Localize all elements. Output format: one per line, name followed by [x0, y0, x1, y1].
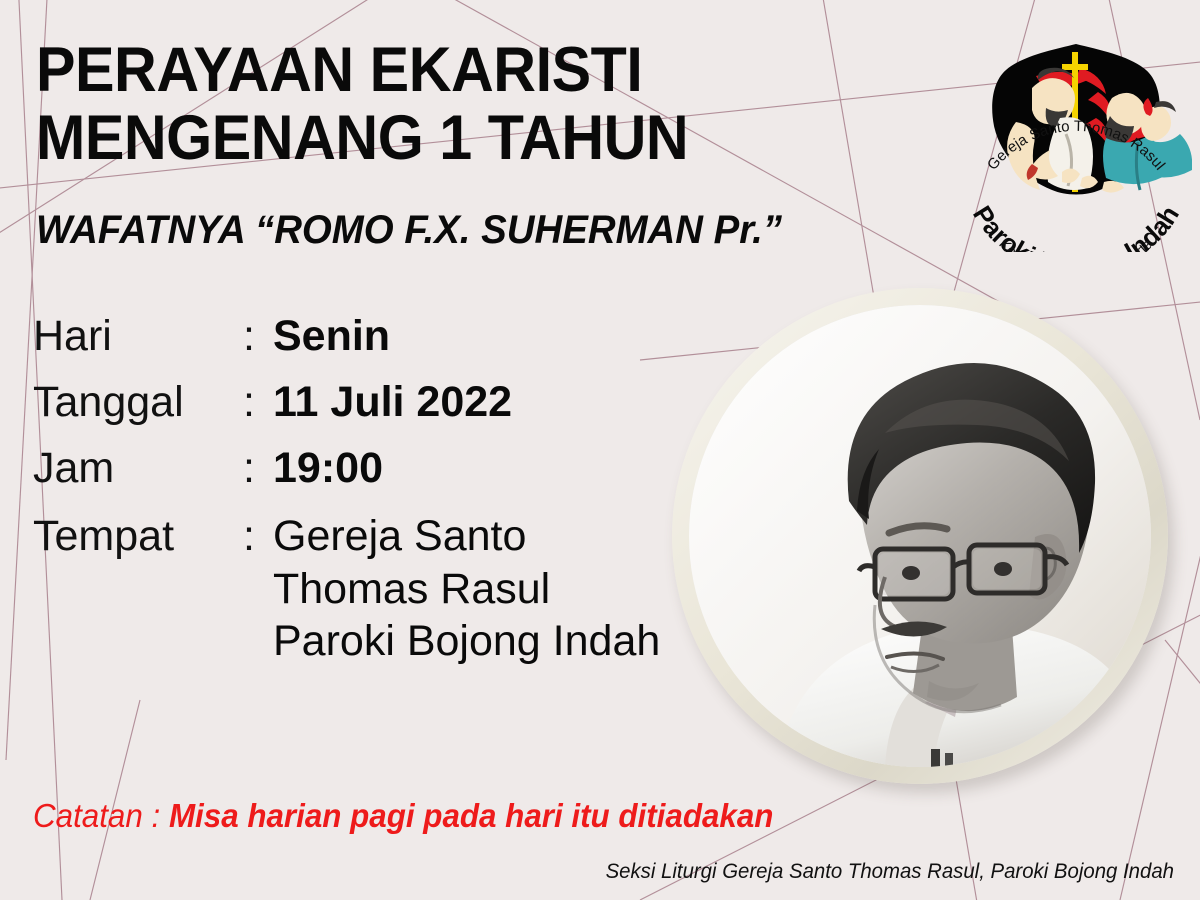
- detail-colon-tanggal: :: [243, 378, 273, 426]
- detail-row-tempat: Tempat : Gereja Santo Thomas Rasul Parok…: [33, 510, 673, 667]
- page-title: PERAYAAN EKARISTI MENGENANG 1 TAHUN: [36, 36, 901, 172]
- footer-credit: Seksi Liturgi Gereja Santo Thomas Rasul,…: [606, 860, 1174, 884]
- portrait-photo: [689, 305, 1151, 767]
- event-details-list: Hari : Senin Tanggal : 11 Juli 2022 Jam …: [33, 312, 673, 668]
- memorial-poster: PERAYAAN EKARISTI MENGENANG 1 TAHUN WAFA…: [0, 0, 1200, 900]
- detail-colon-jam: :: [243, 444, 273, 492]
- detail-value-jam: 19:00: [273, 444, 383, 492]
- detail-colon-tempat: :: [243, 512, 273, 560]
- detail-value-hari: Senin: [273, 312, 390, 360]
- note-label: Catatan :: [33, 797, 160, 834]
- portrait-container: [672, 288, 1168, 784]
- detail-row-jam: Jam : 19:00: [33, 444, 673, 492]
- detail-label-jam: Jam: [33, 444, 243, 492]
- detail-label-hari: Hari: [33, 312, 243, 360]
- parish-crest-logo: Gereja Santo Thomas Rasul Paroki Bojong …: [960, 22, 1192, 252]
- detail-label-tempat: Tempat: [33, 512, 243, 560]
- portrait-inner: [689, 305, 1151, 767]
- note-line: Catatan : Misa harian pagi pada hari itu…: [33, 797, 773, 835]
- detail-value-tanggal: 11 Juli 2022: [273, 378, 512, 426]
- note-text: Misa harian pagi pada hari itu ditiadaka…: [169, 797, 774, 834]
- page-subtitle: WAFATNYA “ROMO F.X. SUHERMAN Pr.”: [36, 208, 958, 253]
- detail-row-tanggal: Tanggal : 11 Juli 2022: [33, 378, 673, 426]
- detail-label-tanggal: Tanggal: [33, 378, 243, 426]
- detail-value-tempat: Gereja Santo Thomas Rasul Paroki Bojong …: [273, 510, 660, 667]
- detail-row-hari: Hari : Senin: [33, 312, 673, 360]
- detail-colon-hari: :: [243, 312, 273, 360]
